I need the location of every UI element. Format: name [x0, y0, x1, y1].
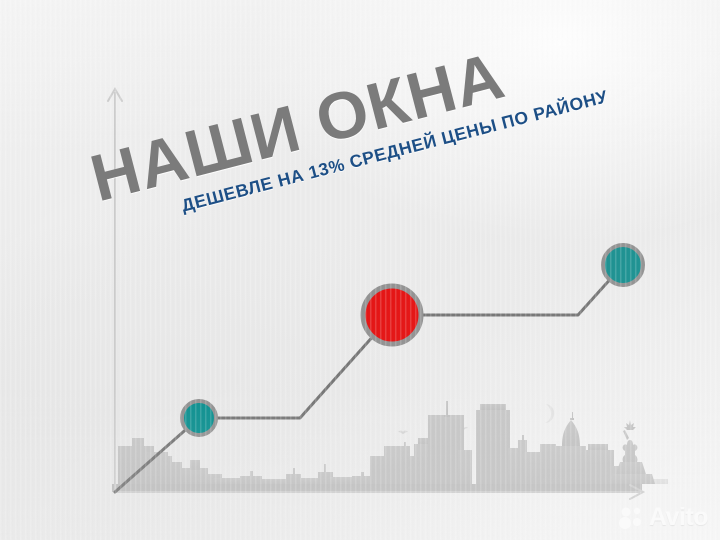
data-point-marker-1 [182, 401, 216, 435]
avito-watermark-label: Avito [649, 503, 708, 532]
avito-dots-icon [619, 506, 645, 530]
statue-silhouette [609, 420, 655, 484]
moon-icon [545, 404, 554, 423]
data-point-marker-2 [363, 286, 421, 344]
advertisement-canvas: НАШИ ОКНА ДЕШЕВЛЕ НА 13% СРЕДНЕЙ ЦЕНЫ ПО… [0, 0, 720, 540]
chart-markers [182, 245, 643, 435]
avito-watermark: Avito [619, 503, 708, 532]
data-point-marker-3 [603, 245, 643, 285]
bird-icon [398, 431, 408, 435]
skyline-ground [112, 484, 642, 492]
